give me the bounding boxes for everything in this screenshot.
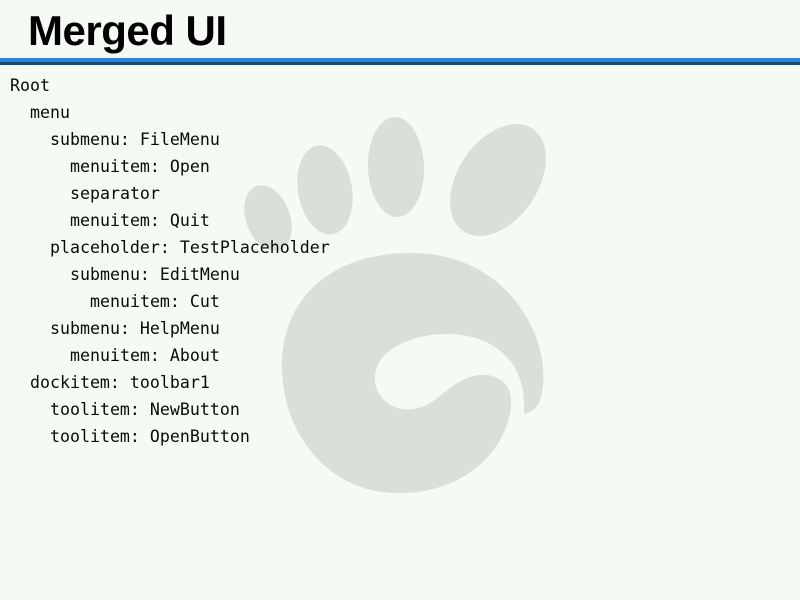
tree-row-menu[interactable]: menu xyxy=(0,99,800,126)
tree-row-label: submenu: HelpMenu xyxy=(50,315,220,342)
tree-row-menuitem[interactable]: menuitem: Cut xyxy=(0,288,800,315)
tree-row-menuitem[interactable]: menuitem: About xyxy=(0,342,800,369)
tree-row-label: menuitem: Cut xyxy=(90,288,220,315)
tree-row-label: menuitem: About xyxy=(70,342,220,369)
tree-row-label: Root xyxy=(10,72,50,99)
tree-row-toolitem[interactable]: toolitem: OpenButton xyxy=(0,423,800,450)
app-window: Merged UI Rootmenusubmenu: FileMenumenui… xyxy=(0,0,800,600)
tree-row-label: toolitem: OpenButton xyxy=(50,423,250,450)
tree-row-label: placeholder: TestPlaceholder xyxy=(50,234,330,261)
tree-row-menuitem[interactable]: menuitem: Quit xyxy=(0,207,800,234)
ui-tree: Rootmenusubmenu: FileMenumenuitem: Opens… xyxy=(0,72,800,450)
tree-row-menuitem[interactable]: menuitem: Open xyxy=(0,153,800,180)
tree-row-label: menuitem: Quit xyxy=(70,207,210,234)
tree-row-separator[interactable]: separator xyxy=(0,180,800,207)
tree-row-toolitem[interactable]: toolitem: NewButton xyxy=(0,396,800,423)
tree-row-dockitem[interactable]: dockitem: toolbar1 xyxy=(0,369,800,396)
page-header: Merged UI xyxy=(0,0,800,58)
tree-row-label: toolitem: NewButton xyxy=(50,396,240,423)
page-title: Merged UI xyxy=(28,7,227,55)
tree-row-submenu[interactable]: submenu: HelpMenu xyxy=(0,315,800,342)
tree-row-label: submenu: FileMenu xyxy=(50,126,220,153)
tree-row-submenu[interactable]: submenu: EditMenu xyxy=(0,261,800,288)
tree-row-label: separator xyxy=(70,180,160,207)
tree-row-label: menuitem: Open xyxy=(70,153,210,180)
tree-row-submenu[interactable]: submenu: FileMenu xyxy=(0,126,800,153)
tree-row-label: submenu: EditMenu xyxy=(70,261,240,288)
header-rule-secondary xyxy=(0,62,800,65)
tree-row-root[interactable]: Root xyxy=(0,72,800,99)
tree-row-placeholder[interactable]: placeholder: TestPlaceholder xyxy=(0,234,800,261)
tree-row-label: dockitem: toolbar1 xyxy=(30,369,210,396)
tree-row-label: menu xyxy=(30,99,70,126)
